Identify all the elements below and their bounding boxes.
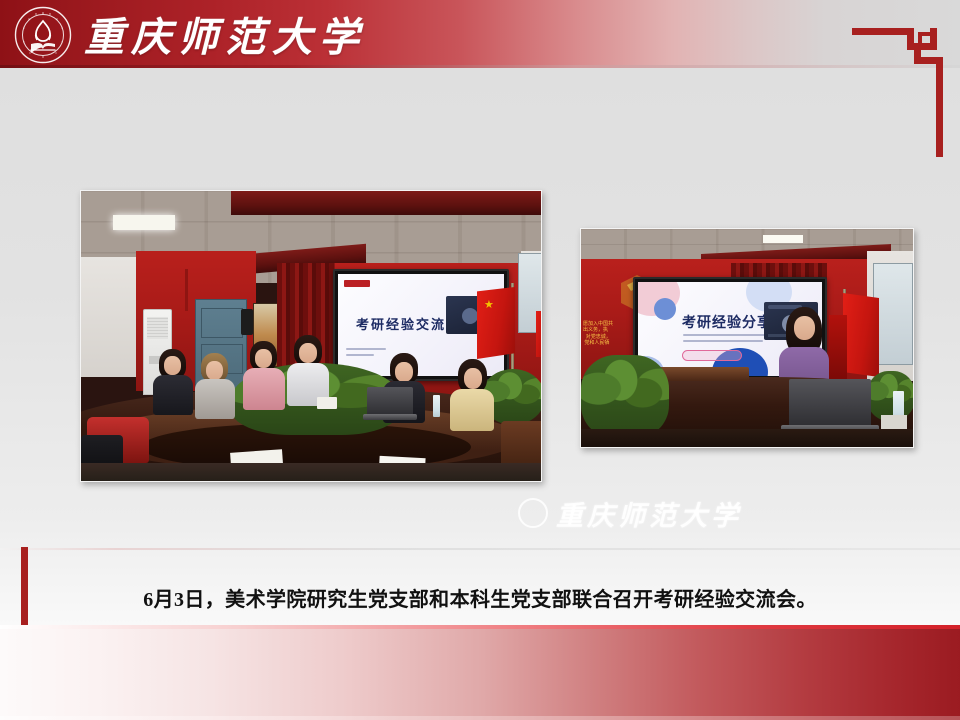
water-bottle [433, 395, 440, 417]
photo-scene: 愿加入中国共出义务，执 对党忠诚， 党和人民牺 考研经验分享 [581, 229, 913, 447]
national-flag [843, 293, 879, 377]
decorative-blob [654, 298, 676, 320]
university-emblem-watermark-icon [518, 498, 548, 528]
attendee-person [153, 349, 193, 415]
header-banner: 重庆师范大学 [0, 0, 960, 68]
watermark-text: 重庆师范大学 [556, 494, 742, 533]
slide-title-text: 考研经验分享 [682, 312, 772, 332]
window [873, 263, 913, 365]
slide-text-line [346, 354, 374, 356]
party-flag: ★ [477, 287, 515, 359]
wall-slogan-text: 愿加入中国共出义务，执 对党忠诚， 党和人民牺 [583, 321, 613, 346]
attendee-person [241, 341, 285, 409]
attendee-person [285, 335, 329, 405]
photo-scene: 我志愿加入中国共产党，拥护党的纲领，遵守党的章程，履行党员义务，执行党的决定，严… [81, 191, 541, 481]
party-flag [829, 315, 847, 379]
slide-caption: 6月3日，美术学院研究生党支部和本科生党支部联合召开考研经验交流会。 [0, 583, 960, 612]
caption-divider [0, 548, 960, 550]
meeting-room-wide-photo: 我志愿加入中国共产党，拥护党的纲领，遵守党的章程，履行党员义务，执行党的决定，严… [80, 190, 542, 482]
hanging-cable [185, 269, 188, 311]
presenter-photo: 愿加入中国共出义务，执 对党忠诚， 党和人民牺 考研经验分享 [580, 228, 914, 448]
footer-banner [0, 625, 960, 720]
ceiling-beam [231, 191, 541, 215]
slide-text-line [683, 340, 763, 342]
slide-logo [344, 280, 370, 287]
ceiling-light [763, 235, 803, 243]
attendee-person [193, 353, 235, 417]
laptop-base [363, 414, 417, 420]
laptop [367, 387, 413, 415]
presentation-slide: 重庆师范大学 [0, 0, 960, 720]
paper-document [317, 397, 337, 409]
floor [581, 429, 913, 447]
presenter-person [447, 359, 495, 429]
potted-plant [867, 371, 914, 421]
university-name-title: 重庆师范大学 [84, 4, 366, 64]
potted-plant [581, 355, 669, 439]
floor [81, 463, 541, 481]
ceiling-light [113, 215, 175, 230]
laptop [789, 379, 871, 427]
university-watermark: 重庆师范大学 [518, 492, 788, 534]
wall-screen [241, 309, 253, 335]
slide-pill-button [682, 350, 742, 361]
star-emblem-icon: ★ [484, 299, 494, 310]
university-emblem-icon [14, 6, 72, 64]
slide-text-line [346, 348, 386, 350]
slide-text-line [683, 334, 771, 336]
party-flag [536, 311, 542, 357]
